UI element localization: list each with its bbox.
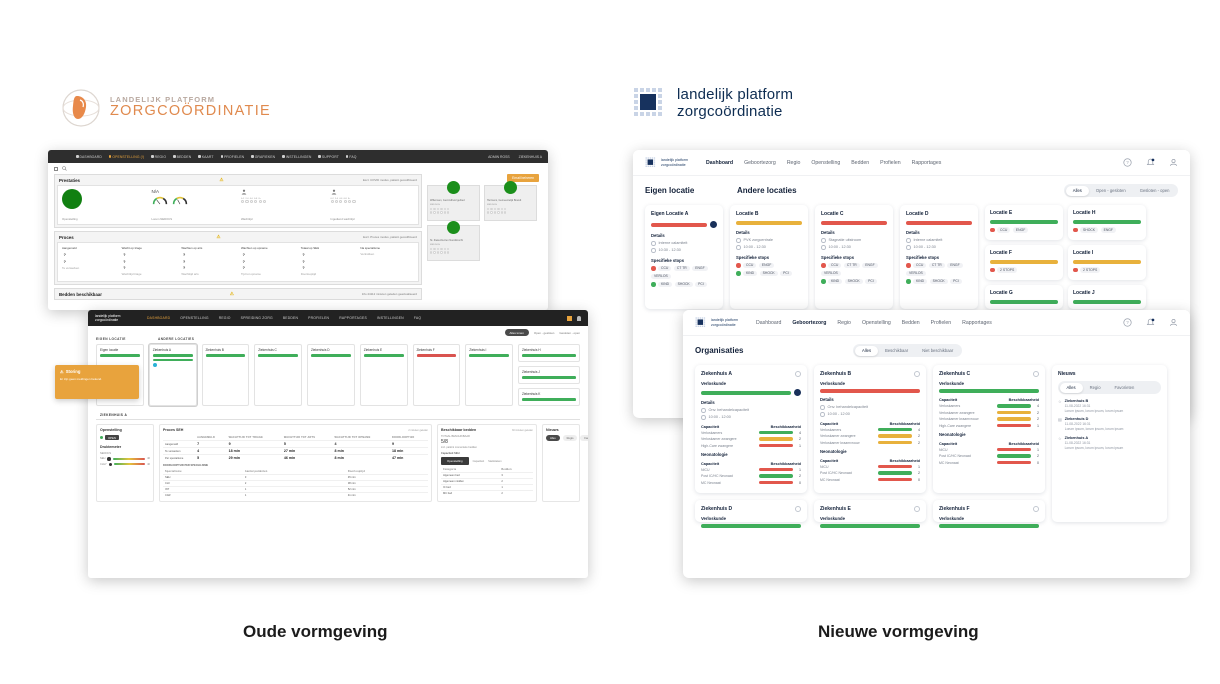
proces-column: Totaal op SEH ? ? ?Doorlooptijd [301,246,355,278]
old-nav-user-item[interactable]: ZIEKENHUIS A [518,155,542,159]
storing-toast[interactable]: ⚠ Storing Er zijn geen meldingen bekend. [55,365,139,399]
filter-option[interactable]: Alles tonen [505,329,529,336]
stop-tag[interactable]: CCU [913,263,926,269]
old-front-nav-item[interactable]: SPREIDING ZORG [241,316,273,320]
availability-bar [997,424,1031,428]
mini-dot-grid [430,211,477,213]
mini-card-title: Hermens, Gemeentelijk Brandt [487,199,534,202]
hospital-card-column: Ziekenhuis HZiekenhuis JZiekenhuis K [518,344,580,406]
status-dot [1073,228,1078,233]
nav-item-regio[interactable]: Regio [837,320,851,326]
location-card-title: Locatie F [990,250,1058,256]
availability-value: 2 [796,437,801,441]
capacity-name: Post IC/HC Neonaat [939,454,994,458]
nieuws-tab[interactable]: Fav [580,435,588,441]
slider-track[interactable] [113,458,145,460]
detail-text: 10:00 - 12:30 [744,245,766,249]
capacity-name: Verloskamer kraamvrouw [939,417,994,421]
old-nav-item[interactable]: BEDDEN [173,155,191,159]
filter-segmented-control[interactable]: AllesOpen - geslotenGesloten - open [1064,184,1178,197]
status-bar [153,354,193,357]
news-item-text: Lorum ipsum, lorum ipsum, lorum ipsum [1065,427,1124,431]
neonatologie-label: Neonatologie [939,432,1039,437]
hospital-card[interactable]: Ziekenhuis B [202,344,250,406]
block-proces-seh: Proces SEH 2 minuten geleden AANGEMELDWA… [159,424,432,502]
status-bar [939,524,1039,528]
new-nav-items[interactable]: DashboardGeboortezorgRegioOpenstellingBe… [706,160,941,166]
ziekenhuis-card[interactable]: Ziekenhuis EVerloskunde [814,500,926,522]
gear-icon[interactable] [1033,371,1039,377]
heading-eigen-locatie: Eigen locatie [645,186,737,195]
news-item-date: 11-08-2022 16:31 [1065,404,1124,408]
gauge-value: N/A [152,189,236,194]
location-card-compact[interactable]: Locatie HSHOCKENGF [1068,205,1146,240]
search-icon[interactable] [62,166,67,171]
bedden-tab[interactable]: Openstelling [441,457,469,465]
old-front-nav-item[interactable]: DASHBOARD [147,316,170,320]
segment-option[interactable]: Gesloten - open [1133,186,1177,196]
hospital-card[interactable]: Ziekenhuis I [465,344,513,406]
nav-item-dashboard[interactable]: Dashboard [756,320,781,326]
bar-wrap [939,389,1039,393]
stop-tag[interactable]: VERLOS [651,274,671,280]
availability-value: 1 [1034,448,1039,452]
cell: 1 [243,493,346,499]
navbar-logo[interactable]: landelijk platform zorgcoördinatie [645,157,688,168]
mini-card-title: Willemsen, Gezondheid gebied [430,199,477,202]
gear-icon[interactable] [795,506,801,512]
stop-tag[interactable]: SHOCK [930,279,948,285]
stop-tag[interactable]: KIND [913,279,927,285]
availability-value: 2 [796,474,801,478]
stop-row: CCUENGF [990,227,1058,233]
verloskunde-label: Verloskunde [939,516,1039,521]
old-front-nav-item[interactable]: OPENSTELLING [180,316,208,320]
detail-row: Interne calamiteit [651,241,717,246]
nav-item-geboortezorg[interactable]: Geboortezorg [744,160,776,166]
warning-icon: ⚠ [216,234,220,240]
status-bar [522,398,576,401]
old-nav-item[interactable]: DASHBOARD [76,155,102,159]
capacity-row: Post IC/HC Neonaat2 [939,454,1039,458]
mini-dot [494,211,496,213]
capaciteit-label: Capaciteit [939,442,957,446]
slider-knob[interactable] [107,457,111,461]
detail-row: Onv. behandelcapaciteit [820,405,920,410]
proces-row: ? [181,265,235,270]
hospital-card[interactable]: Ziekenhuis D [307,344,355,406]
slide-canvas: LANDELIJK PLATFORM ZORGCOÖRDINATIE [0,0,1220,684]
ziekenhuis-card[interactable]: Ziekenhuis AVerloskundeDetailsOnv. behan… [695,365,807,493]
capacity-row: NICU1 [820,465,920,469]
old-front-nav-item[interactable]: BEDDEN [283,316,298,320]
stop-tag[interactable]: KIND [658,282,672,288]
nieuws-tab[interactable]: Alles [1060,383,1083,393]
nav-item-rapportages[interactable]: Rapportages [912,160,942,166]
nav-bullet-icon [151,155,154,158]
stop-tag[interactable]: CT TR [929,263,945,269]
gauge-label: Lorem NEDOCS [152,217,236,221]
old-nav-item[interactable]: OPENSTELLING (!) [109,155,144,159]
row-value: ? [243,265,245,270]
nav-item-profielen[interactable]: Profielen [880,160,900,166]
detail-text: Stagnatie uitstroom [829,238,862,242]
mini-dot [504,208,506,210]
capacity-name: Verloskamer zwangere [820,434,875,438]
ziekenhuis-card[interactable]: Ziekenhuis FVerloskunde [933,500,1045,522]
stop-tag[interactable]: SHOCK [760,271,778,277]
side-mini-card[interactable]: St. Ziekenhuizen NoordkrochtMEDISCH [427,225,480,261]
nav-item-dashboard[interactable]: Dashboard [706,160,733,166]
proces-row: ? [301,252,355,257]
row-value: ? [302,265,304,270]
user-account-icon[interactable] [577,316,581,321]
notifications-icon[interactable] [1146,318,1155,327]
old-nav-item[interactable]: KAART [198,155,213,159]
cell: 9 [227,441,282,448]
status-dot-open [100,436,103,439]
stop-tag[interactable]: PCI [950,279,962,285]
mini-dot [501,208,503,210]
cell: 47 min [390,455,428,462]
segment-option[interactable]: Niet beschikbaar [915,346,960,356]
new-front-nav-items[interactable]: DashboardGeboortezorgRegioOpenstellingBe… [756,320,992,326]
home-icon[interactable] [54,167,58,171]
stop-tag[interactable]: CT TR [674,266,690,272]
ziekenhuis-card[interactable]: Ziekenhuis DVerloskunde [695,500,807,522]
person-icon [241,189,247,195]
status-dot [990,268,995,273]
stop-tag[interactable]: VERLOS [821,271,841,277]
nav-item-bedden[interactable]: Bedden [851,160,869,166]
panel-title: Prestaties [59,178,80,183]
slider-track[interactable] [114,463,145,465]
old-front-tabbar[interactable]: ZIEKENHUIS A [96,411,580,420]
news-item-date: 11-08-2022 16:31 [1065,422,1124,426]
nav-item-bedden[interactable]: Bedden [902,320,920,326]
hospital-card[interactable]: Ziekenhuis K [518,388,580,406]
stop-tag[interactable]: 2 STOPS [1080,267,1100,273]
new-navbar-actions: ? [1123,158,1178,167]
side-mini-card[interactable]: Willemsen, Gezondheid gebiedMEDISCH [427,185,480,221]
ziekenhuis-card[interactable]: Ziekenhuis CVerloskundeCapaciteitBeschik… [933,365,1045,493]
stop-tag[interactable]: PCI [780,271,792,277]
slider-label: SEH [100,457,105,460]
location-card-compact[interactable]: Locatie G [985,285,1063,309]
dot-scale [331,200,415,203]
stop-tag[interactable]: ENGF [1013,227,1028,233]
tab-ziekenhuis-a[interactable]: ZIEKENHUIS A [96,411,131,419]
old-nav-item[interactable]: FAQ [346,155,357,159]
gear-icon[interactable] [795,371,801,377]
stop-tag[interactable]: CCU [997,227,1010,233]
slider-knob[interactable] [109,463,113,467]
status-dot [906,279,911,284]
capacity-row: NICU1 [939,448,1039,452]
stop-row: SHOCKENGF [1073,227,1141,233]
person-icon [331,189,337,195]
gear-icon[interactable] [914,506,920,512]
stop-tag[interactable]: ENGF [759,263,774,269]
column-footer: Tijd tot opname [241,272,295,276]
meter-slider-chly[interactable]: CHLY 40 [100,463,150,467]
news-item[interactable]: ▤Ziekenhuis D11-08-2022 16:31Lorum ipsum… [1058,417,1161,431]
old-logo: LANDELIJK PLATFORM ZORGCOÖRDINATIE [60,88,271,128]
segment-option[interactable]: Alles [1066,186,1089,196]
filter-option[interactable]: Open - gesloten [534,331,555,335]
nav-bullet-icon [109,155,112,158]
stop-tag[interactable]: KIND [828,279,842,285]
stop-tag[interactable]: 2 STOPS [997,267,1017,273]
user-account-icon[interactable] [1169,158,1178,167]
alert-icon[interactable] [567,316,572,321]
column-title: Aangemeld [62,246,116,250]
capacity-name: NICU [701,468,756,472]
table-body: Algemeen bed3Algemeen midden2IC bed1MC b… [441,473,533,497]
old-front-nav-items[interactable]: DASHBOARDOPENSTELLINGREGIOSPREIDING ZORG… [147,316,421,320]
ziekenhuis-card[interactable]: Ziekenhuis BVerloskundeDetailsOnv. behan… [814,365,926,493]
capacity-name: MC Neonaat [820,478,875,482]
stop-tag[interactable]: ENGF [947,263,962,269]
building-icon: ▤ [1058,417,1062,431]
stop-tag[interactable]: ENGF [1101,227,1116,233]
segment-option[interactable]: Beschikbaar [878,346,915,356]
old-nav-item[interactable]: INSTELLINGEN [282,155,311,159]
nieuws-tab[interactable]: Regio [563,435,578,441]
capacity-row: Verloskamer zwangere2 [939,411,1039,415]
meter-slider-seh[interactable]: SEH 40 [100,457,150,461]
segment-option[interactable]: Alles [855,346,878,356]
bedden-tab[interactable]: Statistieken [488,460,501,463]
hospital-card[interactable]: Ziekenhuis E [360,344,408,406]
stop-tag[interactable]: PCI [865,279,877,285]
status-bar [100,354,140,357]
stop-tag[interactable]: SHOCK [845,279,863,285]
old-front-nav-item[interactable]: PROFIELEN [308,316,329,320]
status-bar [939,389,1039,393]
status-bar [206,354,246,357]
location-card[interactable]: Locatie CDetailsStagnatie uitstroom10:00… [815,205,893,309]
stop-tag[interactable]: VERLOS [906,271,926,277]
hospital-card-name: Ziekenhuis K [522,392,576,396]
hospital-card[interactable]: Ziekenhuis F [413,344,461,406]
column-title: Wachten op arts [181,246,235,250]
old-nav-item[interactable]: GRAFIEKEN [251,155,275,159]
nav-item-openstelling[interactable]: Openstelling [811,160,840,166]
old-front-navbar-actions[interactable] [567,316,581,321]
old-nav-item[interactable]: SUPPORT [318,155,339,159]
row-value: ? [183,259,185,264]
nav-item-geboortezorg[interactable]: Geboortezorg [792,320,826,326]
status-bar [990,300,1058,304]
meter-sub: NEDOCS [100,452,150,455]
toast-text: Er zijn geen meldingen bekend. [60,377,134,382]
organisaties-grid: Ziekenhuis AVerloskundeDetailsOnv. behan… [683,361,1190,532]
old-nav-user-item[interactable]: ADMIN ROSS [487,155,509,159]
nieuws-tab[interactable]: Alles [546,435,560,441]
mini-dot [490,208,492,210]
cell: 5 [195,455,227,462]
gear-icon[interactable] [914,371,920,377]
gear-icon[interactable] [1033,506,1039,512]
status-bar [364,354,404,357]
hospital-card[interactable]: Ziekenhuis A [149,344,197,406]
locations-grid: Eigen Locatie ADetailsInterne calamiteit… [633,201,1190,319]
column-title: Wachten op opname [241,246,295,250]
bar-wrap [701,389,801,396]
old-nav-items[interactable]: DASHBOARDOPENSTELLING (!)REGIOBEDDENKAAR… [76,155,357,159]
old-front-hospital-cards: Eigen locatieZiekenhuis AZiekenhuis BZie… [88,341,588,406]
cell-value: 4 [197,449,199,453]
hospital-card[interactable]: Ziekenhuis H [518,344,580,362]
status-circle-green [504,181,517,194]
stop-tag[interactable]: ENGF [692,266,707,272]
new-subheader: Eigen locatie Andere locaties AllesOpen … [633,176,1190,201]
old-nav-item[interactable]: REGIO [151,155,166,159]
beschikbaarheid-label: Beschikbaarheid [1009,442,1039,446]
stop-tag[interactable]: KIND [743,271,757,277]
nieuws-tabs[interactable]: AllesRegioFav [546,435,576,441]
side-mini-card[interactable]: Hermens, Gemeentelijk BrandtMEDISCH [484,185,537,221]
mini-dot [501,211,503,213]
verloskunde-label: Verloskunde [701,381,801,386]
bar-wrap [820,389,920,393]
capacity-header: CapaciteitBeschikbaarheid [820,422,920,426]
cell-value: 5 [284,442,286,446]
cell: 18 min [227,448,282,455]
stop-tag[interactable]: PCI [695,282,707,288]
location-card-compact[interactable]: Locatie J [1068,285,1146,309]
availability-bar [878,471,912,475]
user-account-icon[interactable] [1169,318,1178,327]
old-front-nav-item[interactable]: RAPPORTAGES [339,316,367,320]
notifications-icon[interactable] [1146,158,1155,167]
availability-value: 0 [1034,461,1039,465]
location-card[interactable]: Eigen Locatie ADetailsInterne calamiteit… [645,205,723,309]
card-header: Ziekenhuis C [939,371,1039,377]
hospital-card-name: Ziekenhuis H [522,348,576,352]
bar-wrap [906,221,972,225]
filter-segmented-control[interactable]: AllesBeschikbaarNiet beschikbaar [853,344,961,357]
segment-option[interactable]: Open - gesloten [1089,186,1133,196]
old-nav-item[interactable]: PROFIELEN [221,155,245,159]
location-card[interactable]: Locatie BDetailsPVK zorgcentrale10:00 - … [730,205,808,309]
availability-value: 1 [796,444,801,448]
news-item-text: Lorum ipsum, lorum ipsum, lorum ipsum [1065,446,1124,450]
mini-dot-grid [430,248,477,250]
location-card-compact[interactable]: Locatie F2 STOPS [985,245,1063,280]
navbar-logo[interactable]: landelijk platform zorgcoördinatie [95,314,135,323]
capacity-name: NICU [939,448,994,452]
old-nav-user-menu[interactable]: ADMIN ROSSZIEKENHUIS A [487,155,542,159]
cell: 7 [195,441,227,448]
help-circle-icon[interactable]: ? [1123,318,1132,327]
table-body: Aangemeld79549Te verwerken418 min27 min8… [163,441,428,462]
mini-dot [433,248,435,250]
mini-dot [433,211,435,213]
old-front-nav-item[interactable]: REGIO [219,316,231,320]
bedden-tabs[interactable]: OpenstellingCapaciteitStatistieken [441,457,533,465]
proces-column: Wachten op arts ? ? ?Wachttijd arts [181,246,235,278]
verloskunde-label: Verloskunde [820,381,920,386]
nav-item-rapportages[interactable]: Rapportages [962,320,992,326]
navbar-logo[interactable]: landelijk platform zorgcoördinatie [695,317,738,328]
mini-dot [497,208,499,210]
capacity-row: High-Care zwangere1 [939,424,1039,428]
location-card-title: Locatie I [1073,250,1141,256]
bedden-tab[interactable]: Capaciteit [473,460,485,463]
nieuws-tab[interactable]: Regio [1083,383,1108,393]
stops-label: Specifieke stops [651,258,717,263]
warning-icon: ⚠ [60,369,64,374]
old-front-filters[interactable]: Alles tonenOpen - geslotenGesloten - ope… [88,326,588,337]
location-card-compact[interactable]: Locatie ECCUENGF [985,205,1063,240]
row-value: ? [302,259,304,264]
help-circle-icon[interactable]: ? [1123,158,1132,167]
cell-value: 9 [392,442,394,446]
dot-scale [241,200,325,203]
stop-tag[interactable]: ENGF [862,263,877,269]
stop-tag[interactable]: SHOCK [1080,227,1098,233]
cell: MC bed [441,491,499,497]
row-value: ? [302,252,304,257]
mini-dot [437,251,439,253]
stops-label: Specifieke stops [821,255,887,260]
location-card[interactable]: Locatie DDetailsInterne calamiteit10:00 … [900,205,978,309]
details-label: Details [736,230,802,235]
nieuws-tabs[interactable]: AllesRegioFavorieten [1058,381,1161,394]
kpi-label: Ingediend wachttijd [331,217,415,221]
meter-title: Druktemeter [100,445,121,449]
stop-tag[interactable]: CT TR [844,263,860,269]
status-bar [736,221,802,225]
hospital-card[interactable]: Ziekenhuis C [254,344,302,406]
stop-tag[interactable]: CCU [743,263,756,269]
old-front-nav-item[interactable]: FAQ [414,316,421,320]
old-side-cards: Willemsen, Gezondheid gebiedMEDISCHHerme… [427,185,539,261]
svg-text:?: ? [1126,160,1129,165]
news-item[interactable]: ☆Ziekenhuis A11-08-2022 16:31Lorum ipsum… [1058,436,1161,450]
nav-item-regio[interactable]: Regio [787,160,801,166]
cell: 5 [282,441,333,448]
nav-bullet-icon [221,155,224,158]
hospital-card[interactable]: Ziekenhuis J [518,366,580,384]
nav-item-openstelling[interactable]: Openstelling [862,320,891,326]
location-card-compact[interactable]: Locatie I2 STOPS [1068,245,1146,280]
filter-option[interactable]: Gesloten - open [559,331,580,335]
nav-item-profielen[interactable]: Profielen [931,320,951,326]
capacity-row: Verloskamer zwangere2 [701,437,801,441]
slider-label: CHLY [100,463,107,466]
stop-tag[interactable]: CCU [658,266,671,272]
stop-tag[interactable]: CCU [828,263,841,269]
news-item-title: Ziekenhuis B [1065,399,1124,403]
availability-value: 2 [1034,454,1039,458]
row-label: Per specialisme [163,455,195,462]
beschikbaarheid-label: Beschikbaarheid [890,422,920,426]
row-value: ? [123,252,125,257]
card-header: Ziekenhuis A [701,371,801,377]
old-front-nav-item[interactable]: INSTELLINGEN [377,316,404,320]
capacity-header: CapaciteitBeschikbaarheid [820,459,920,463]
nieuws-tab[interactable]: Favorieten [1108,383,1142,393]
stop-tag[interactable]: SHOCK [675,282,693,288]
cell-value: 9 [229,442,231,446]
capacity-header: CapaciteitBeschikbaarheid [939,442,1039,446]
block-title: Nieuws [546,428,559,432]
hospital-card-name: Ziekenhuis E [364,348,404,352]
news-item[interactable]: ☆Ziekenhuis B11-08-2022 16:31Lorum ipsum… [1058,399,1161,413]
